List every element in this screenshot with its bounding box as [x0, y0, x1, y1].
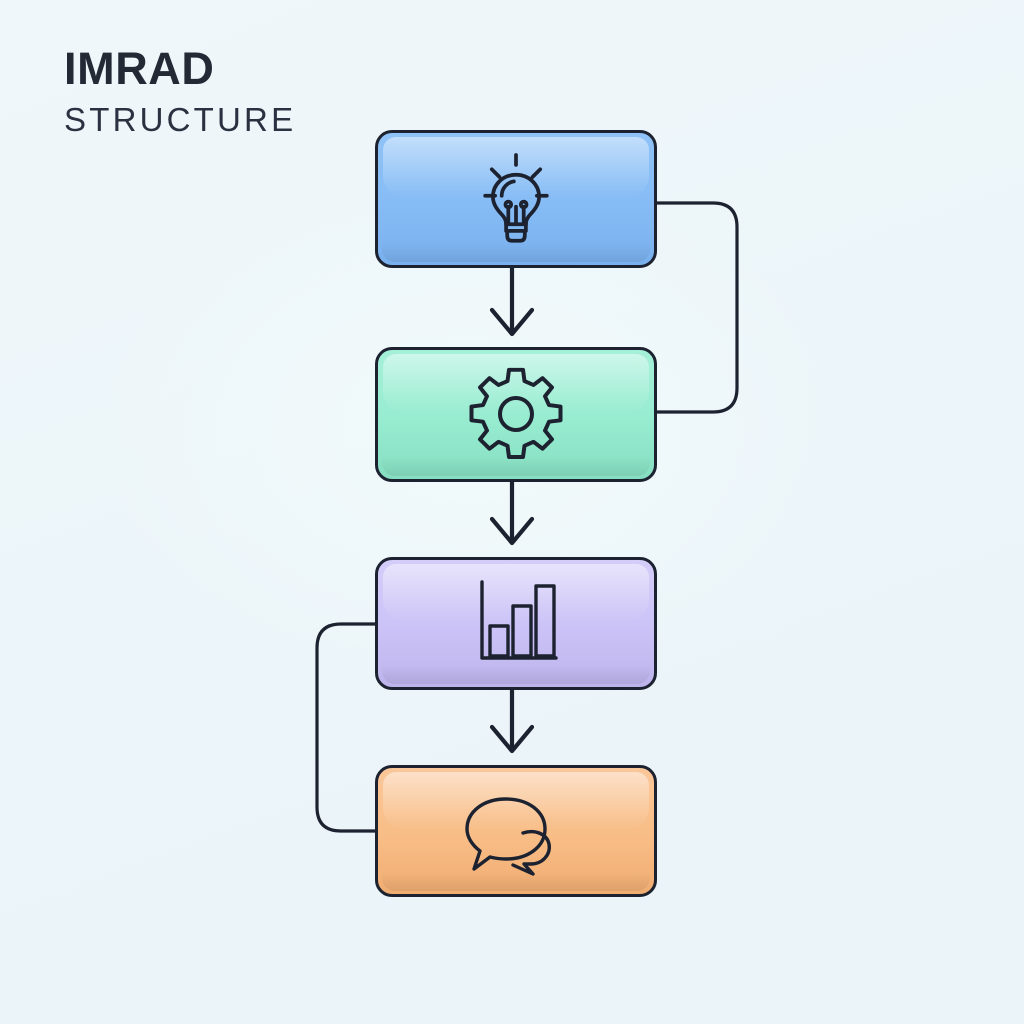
diagram-canvas: IMRAD STRUCTURE: [0, 0, 1024, 1024]
icon-wrap: [378, 560, 654, 687]
icon-wrap: [378, 768, 654, 894]
loop-results-to-discussion-left: [317, 624, 375, 831]
loop-intro-to-methods-right: [657, 203, 737, 412]
gear-icon: [466, 365, 566, 465]
title-main: IMRAD: [64, 46, 296, 91]
arrow-methods-to-results: [492, 482, 532, 543]
lightbulb-icon: [461, 144, 571, 254]
arrow-intro-to-methods: [492, 268, 532, 334]
bar-chart-icon: [464, 574, 568, 674]
node-introduction[interactable]: [375, 130, 657, 268]
node-results[interactable]: [375, 557, 657, 690]
node-methods[interactable]: [375, 347, 657, 482]
icon-wrap: [378, 133, 654, 265]
speech-bubbles-icon: [460, 781, 572, 881]
title-subtitle: STRUCTURE: [64, 103, 296, 136]
arrow-results-to-discussion: [492, 690, 532, 751]
icon-wrap: [378, 350, 654, 479]
page-title: IMRAD STRUCTURE: [64, 46, 296, 136]
node-discussion[interactable]: [375, 765, 657, 897]
